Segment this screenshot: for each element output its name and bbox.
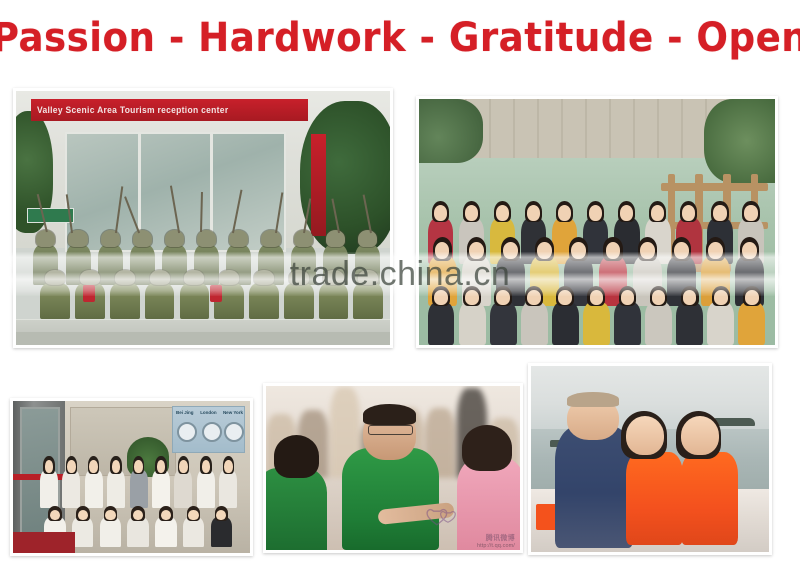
person-torso <box>552 302 579 345</box>
office-person-standing <box>218 448 238 508</box>
soldier-front <box>38 262 72 319</box>
office-person-standing <box>196 448 216 508</box>
person-torso <box>211 517 233 547</box>
soldier-helmet <box>36 230 55 247</box>
photo-boat-trip-canvas <box>531 366 769 552</box>
person-face <box>105 510 115 521</box>
person-face <box>496 205 509 221</box>
person-face <box>683 290 697 305</box>
photo-boat-trip[interactable] <box>528 363 772 555</box>
person-face <box>50 510 60 521</box>
reception-center-banner: Valley Scenic Area Tourism reception cen… <box>31 99 308 122</box>
soldier-helmet <box>358 230 377 247</box>
soldier-body <box>319 283 349 319</box>
person-face <box>590 290 604 305</box>
rifle <box>275 192 283 233</box>
soldier-front <box>143 262 177 319</box>
office-person-standing <box>106 448 126 508</box>
photo-office-group[interactable]: Bei Jing London New York <box>10 398 253 556</box>
rifle <box>363 194 372 233</box>
lake-person <box>519 278 549 345</box>
person-face <box>558 290 572 305</box>
lake-person <box>613 278 643 345</box>
person-face <box>708 242 723 259</box>
person-torso <box>614 302 641 345</box>
office-person-standing <box>151 448 171 508</box>
person-face <box>606 242 621 259</box>
soldier-helmet <box>184 270 204 285</box>
person-face <box>202 460 211 473</box>
clock-label-newyork: New York <box>223 410 243 415</box>
colleague-pink-right-head <box>462 425 513 471</box>
lake-person <box>581 278 611 345</box>
office-person-standing <box>39 448 59 508</box>
person-torso <box>583 302 610 345</box>
rifle <box>37 194 48 233</box>
office-person-standing <box>61 448 81 508</box>
soldier-helmet <box>358 270 378 285</box>
woman-center-head <box>626 416 664 455</box>
person-torso <box>676 302 703 345</box>
person-face <box>537 242 552 259</box>
person-face <box>179 460 188 473</box>
lake-person <box>675 278 705 345</box>
rifle <box>124 196 140 233</box>
soldier-body <box>110 283 140 319</box>
soldier-body <box>249 283 279 319</box>
lake-person <box>426 278 456 345</box>
person-face <box>503 242 518 259</box>
woman-right-head <box>681 416 719 455</box>
person-face <box>745 290 759 305</box>
person-face <box>674 242 689 259</box>
page-title-bar: Passion - Hardwork - Gratitude - Open <box>0 8 800 68</box>
person-torso <box>428 302 455 345</box>
office-person-seated <box>209 501 233 547</box>
soldier-helmet <box>115 270 135 285</box>
qq-watermark-url: http://t.qq.com/ <box>477 543 515 549</box>
soldier-crowd <box>16 180 390 322</box>
person-face <box>640 242 655 259</box>
soldier-front <box>178 262 212 319</box>
person-face <box>571 242 586 259</box>
lake-person <box>457 278 487 345</box>
person-torso <box>100 517 122 547</box>
office-person-standing <box>173 448 193 508</box>
life-jacket-center <box>626 452 683 545</box>
photo-lake-group-canvas <box>419 99 775 345</box>
soldier-helmet <box>80 270 100 285</box>
person-face <box>652 290 666 305</box>
person-face <box>713 205 726 221</box>
distant-boat-3 <box>714 418 754 426</box>
soldier-helmet <box>326 230 345 247</box>
soldier-helmet <box>45 270 65 285</box>
lake-group-crowd <box>419 168 775 345</box>
soldier-body <box>145 283 175 319</box>
office-person-seated <box>98 501 122 547</box>
soldier-body <box>180 283 210 319</box>
person-torso <box>459 302 486 345</box>
person-torso <box>127 517 149 547</box>
person-face <box>188 510 198 521</box>
qq-watermark: 腾讯微博 http://t.qq.com/ <box>477 535 515 549</box>
red-accent <box>210 285 221 302</box>
person-face <box>224 460 233 473</box>
person-face <box>620 205 633 221</box>
speaker-green-shirt <box>342 448 439 550</box>
lake-person <box>488 278 518 345</box>
soldier-front <box>108 262 142 319</box>
person-face <box>527 290 541 305</box>
person-face <box>714 290 728 305</box>
person-face <box>133 510 143 521</box>
speaker-hair <box>363 404 416 425</box>
person-face <box>651 205 664 221</box>
red-carpet <box>13 532 75 553</box>
rifle <box>200 192 203 232</box>
rifle <box>303 198 311 233</box>
person-face <box>527 205 540 221</box>
person-face <box>558 205 571 221</box>
soldier-helmet <box>323 270 343 285</box>
person-torso <box>645 302 672 345</box>
person-face <box>469 242 484 259</box>
colleague-back-left <box>266 468 327 550</box>
lake-person <box>644 278 674 345</box>
person-torso <box>155 517 177 547</box>
person-torso <box>72 517 94 547</box>
soldier-body <box>353 283 383 319</box>
soldier-helmet <box>254 270 274 285</box>
person-face <box>89 460 98 473</box>
person-face <box>434 205 447 221</box>
person-face <box>589 205 602 221</box>
photo-training-workshop[interactable]: 腾讯微博 http://t.qq.com/ <box>263 383 523 553</box>
soldier-helmet <box>68 230 87 247</box>
ground-strip <box>16 332 390 345</box>
office-person-seated <box>126 501 150 547</box>
soldier-helmet <box>197 230 216 247</box>
person-face <box>67 460 76 473</box>
soldier-helmet <box>101 230 120 247</box>
soldier-front <box>282 262 316 319</box>
lake-person <box>737 278 767 345</box>
rifle <box>65 194 72 233</box>
soldier-helmet <box>261 230 280 247</box>
collage-page: Passion - Hardwork - Gratitude - Open Va… <box>0 0 800 571</box>
soldier-front <box>317 262 351 319</box>
life-jacket-right <box>681 452 738 545</box>
soldier-body <box>40 283 70 319</box>
person-torso <box>521 302 548 345</box>
office-crowd <box>37 431 241 547</box>
person-torso <box>183 517 205 547</box>
clock-label-london: London <box>200 410 217 415</box>
soldier-body <box>284 283 314 319</box>
soldier-front <box>351 262 385 319</box>
soldier-helmet <box>289 270 309 285</box>
rifle <box>170 186 180 233</box>
speaker-glasses-icon <box>368 425 413 435</box>
soldier-helmet <box>165 230 184 247</box>
photo-military-training[interactable]: Valley Scenic Area Tourism reception cen… <box>13 88 393 348</box>
foliage-left <box>419 99 483 163</box>
person-face <box>435 242 450 259</box>
rifle <box>232 190 242 233</box>
person-face <box>496 290 510 305</box>
photo-office-group-canvas: Bei Jing London New York <box>13 401 250 553</box>
person-face <box>621 290 635 305</box>
photo-training-workshop-canvas: 腾讯微博 http://t.qq.com/ <box>266 386 520 550</box>
person-face <box>161 510 171 521</box>
red-accent <box>83 285 94 302</box>
person-face <box>742 242 757 259</box>
office-person-standing <box>128 448 148 508</box>
person-torso <box>490 302 517 345</box>
photo-lake-group[interactable] <box>416 96 778 348</box>
person-face <box>134 460 143 473</box>
photo-military-training-canvas: Valley Scenic Area Tourism reception cen… <box>16 91 390 345</box>
page-title: Passion - Hardwork - Gratitude - Open <box>0 15 800 61</box>
colleague-back-left-head <box>274 435 320 478</box>
person-face <box>744 205 757 221</box>
lake-person <box>550 278 580 345</box>
person-torso <box>738 302 765 345</box>
person-face <box>465 290 479 305</box>
person-face <box>434 290 448 305</box>
clock-label-beijing: Bei Jing <box>176 410 194 415</box>
person-torso <box>707 302 734 345</box>
person-face <box>682 205 695 221</box>
person-face <box>465 205 478 221</box>
office-person-seated <box>154 501 178 547</box>
person-face <box>112 460 121 473</box>
person-face <box>78 510 88 521</box>
office-person-seated <box>181 501 205 547</box>
soldier-front <box>247 262 281 319</box>
office-person-standing <box>84 448 104 508</box>
man-hair <box>567 392 619 407</box>
person-face <box>157 460 166 473</box>
person-face <box>45 460 54 473</box>
heart-logo-icon <box>425 506 459 530</box>
rifle <box>115 187 123 233</box>
soldier-helmet <box>150 270 170 285</box>
rifle <box>331 199 340 233</box>
lake-person <box>706 278 736 345</box>
soldier-helmet <box>219 270 239 285</box>
reception-center-banner-text: Valley Scenic Area Tourism reception cen… <box>37 105 228 116</box>
qq-watermark-title: 腾讯微博 <box>477 535 515 543</box>
soldier-helmet <box>133 230 152 247</box>
